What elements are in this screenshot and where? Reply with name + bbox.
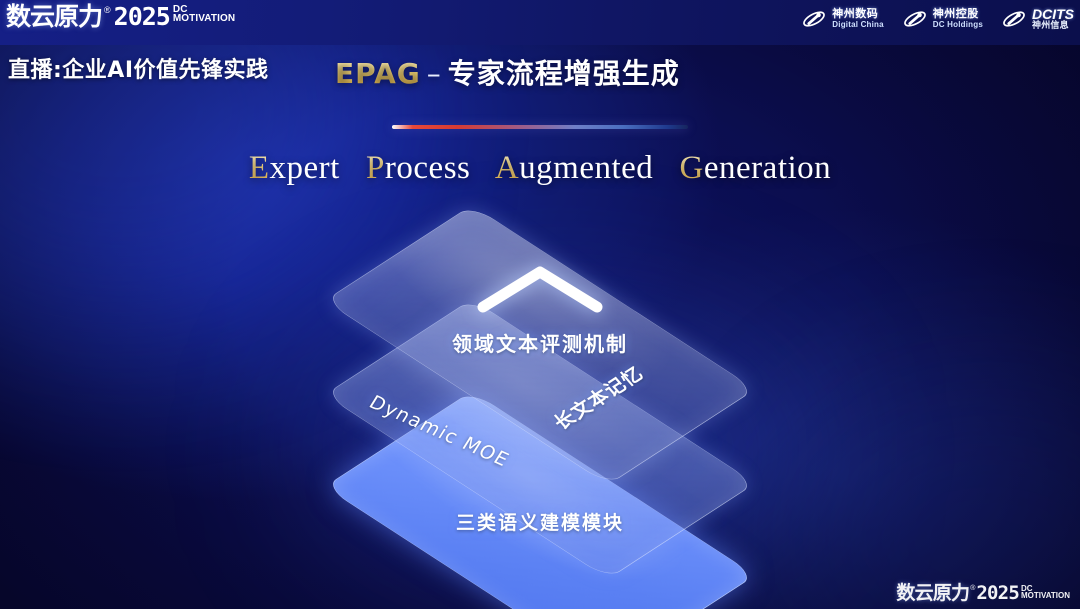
watermark-tagline-line2: MOTIVATION (1021, 592, 1070, 600)
subtitle-rest-augmented: ugmented (519, 150, 653, 186)
diagram-label-top: 领域文本评测机制 (0, 328, 1080, 357)
brand-year: 2025 (114, 4, 170, 29)
logo-name-en: Digital China (832, 20, 884, 30)
watermark-year: 2025 (976, 584, 1019, 603)
chevron-up-icon (475, 263, 605, 315)
logo-name-cn: 神州控股 (933, 9, 983, 20)
brand-tagline-line2: MOTIVATION (173, 14, 235, 24)
subtitle-space-1 (349, 150, 358, 186)
logo-name-en: DCITS (1032, 9, 1074, 20)
live-broadcast-label: 直播:企业AI价值先锋实践 (8, 52, 269, 84)
logo-dc-holdings: 神州控股 DC Holdings (902, 7, 983, 31)
subtitle-rest-generation: eneration (704, 150, 831, 186)
watermark-registered-mark: ® (970, 585, 975, 592)
subtitle-rest-process: rocess (385, 150, 470, 186)
subtitle-word-augmented: Augmented (495, 150, 653, 186)
diagram-label-bottom: 三类语义建模模块 (0, 508, 1080, 535)
logo-digital-china: 神州数码 Digital China (801, 7, 884, 31)
brand-tagline: DC MOTIVATION (173, 5, 235, 24)
subtitle-rest-expert: xpert (269, 150, 339, 186)
subtitle-initial-a: A (495, 150, 519, 186)
subtitle-initial-g: G (680, 150, 704, 186)
top-bar: 数云原力 ® 2025 DC MOTIVATION 神州数码 Digital C… (0, 0, 1080, 45)
subtitle-space-2 (479, 150, 488, 186)
layered-architecture-diagram: 领域文本评测机制 Dynamic MOE 长文本记忆 三类语义建模模块 (0, 218, 1080, 578)
swoosh-icon (1001, 7, 1027, 31)
subtitle-word-process: Process (366, 150, 470, 186)
logo-name-cn: 神州信息 (1032, 20, 1074, 30)
event-brand-logo: 数云原力 ® 2025 DC MOTIVATION (6, 4, 235, 29)
watermark-tagline: DC MOTIVATION (1021, 585, 1070, 600)
title-acronym: EPAG (335, 57, 421, 90)
watermark-name-cn: 数云原力 (896, 584, 969, 603)
logo-digital-china-text: 神州数码 Digital China (832, 9, 884, 30)
swoosh-icon (801, 7, 827, 31)
gradient-divider (392, 125, 688, 129)
logo-name-cn: 神州数码 (832, 9, 884, 20)
bottom-watermark: 数云原力 ® 2025 DC MOTIVATION (896, 584, 1070, 603)
brand-registered-mark: ® (104, 6, 111, 15)
subtitle-space-3 (662, 150, 671, 186)
logo-dc-holdings-text: 神州控股 DC Holdings (933, 9, 983, 30)
title-chinese: 专家流程增强生成 (448, 57, 680, 90)
subtitle-word-expert: Expert (249, 150, 340, 186)
brand-name-cn: 数云原力 (6, 4, 102, 29)
slide-canvas: 数云原力 ® 2025 DC MOTIVATION 神州数码 Digital C… (0, 0, 1080, 609)
subtitle-initial-p: P (366, 150, 385, 186)
swoosh-icon (902, 7, 928, 31)
logo-name-en: DC Holdings (933, 20, 983, 30)
subtitle-expansion: Expert Process Augmented Generation (0, 150, 1080, 187)
partner-logos: 神州数码 Digital China 神州控股 DC Holdings (801, 7, 1074, 31)
logo-dcits-text: DCITS 神州信息 (1032, 9, 1074, 30)
logo-dcits: DCITS 神州信息 (1001, 7, 1074, 31)
subtitle-word-generation: Generation (680, 150, 832, 186)
subtitle-initial-e: E (249, 150, 270, 186)
page-title: EPAG–专家流程增强生成 (335, 52, 680, 92)
title-dash: – (421, 57, 448, 90)
